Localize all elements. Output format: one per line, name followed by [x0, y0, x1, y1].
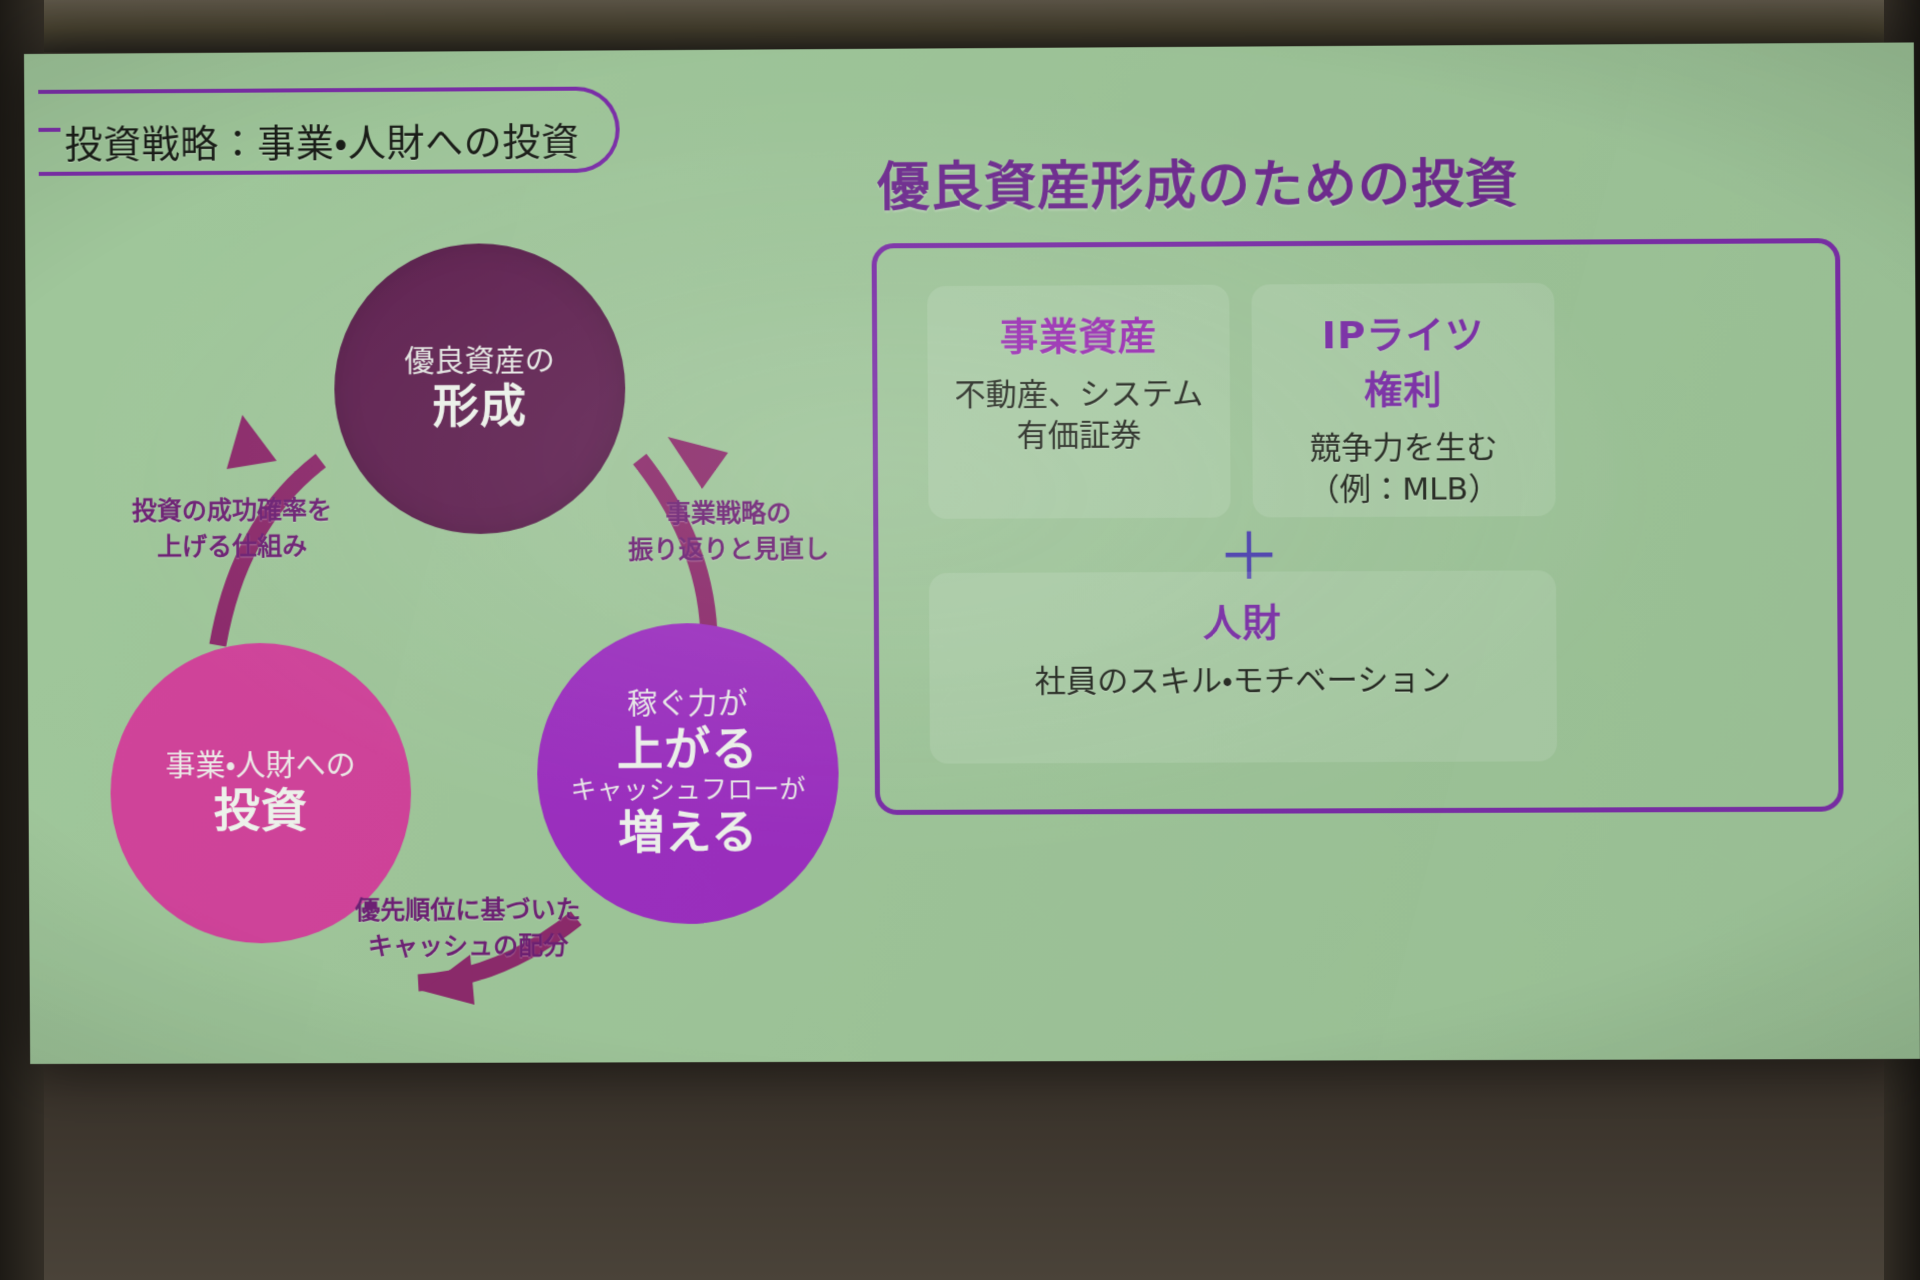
card-ip-rights[interactable]: IPライツ 権利 競争力を生む （例：MLB）	[1251, 283, 1555, 518]
cycle-node-earning-power[interactable]: 稼ぐ力が 上がる キャッシュフローが 増える	[536, 623, 839, 925]
cycle-node-earning-power-line2: 上がる	[617, 722, 759, 776]
investment-cycle-diagram: 優良資産の 形成 事業・人財への 投資 稼ぐ力が 上がる キャッシュフローが 増…	[65, 189, 862, 1024]
cycle-node-asset-formation-line2: 形成	[433, 379, 528, 433]
cycle-arrow-label-bottom-line2: キャッシュの配分	[298, 928, 639, 965]
card-human-capital-body: 社員のスキル・モチベーション	[929, 660, 1556, 704]
title-rule	[38, 128, 60, 132]
card-ip-rights-title-line1: IPライツ	[1252, 303, 1555, 360]
projection-screen: 投資戦略：事業・人財への投資 優良資産の 形成	[24, 42, 1920, 1064]
cycle-arrow-label-left-line2: 上げる仕組み	[87, 529, 378, 567]
cycle-arrow-label-left-line1: 投資の成功確率を	[87, 492, 378, 530]
card-human-capital[interactable]: 人財 社員のスキル・モチベーション	[929, 570, 1557, 763]
right-panel: 優良資産形成のための投資 事業資産 不動産、システム 有価証券 IPライツ 権利	[867, 139, 1881, 987]
card-human-capital-title: 人財	[929, 590, 1556, 648]
cycle-arrow-label-right: 事業戦略の 振り返りと見直し	[598, 495, 860, 569]
cycle-node-investment-line1: 事業・人財への	[165, 749, 356, 785]
card-business-assets-body: 不動産、システム 有価証券	[928, 374, 1231, 458]
slide-canvas: 投資戦略：事業・人財への投資 優良資産の 形成	[24, 42, 1920, 1064]
cycle-arrow-label-right-line2: 振り返りと見直し	[598, 532, 859, 569]
card-ip-rights-body: 競争力を生む （例：MLB）	[1252, 428, 1555, 512]
cycle-node-earning-power-line3: キャッシュフローが	[570, 775, 805, 806]
card-ip-rights-body-line1: 競争力を生む	[1252, 428, 1555, 471]
card-business-assets[interactable]: 事業資産 不動産、システム 有価証券	[927, 285, 1231, 519]
cycle-arrow-label-right-line1: 事業戦略の	[598, 495, 859, 533]
arrow-head-top-to-right	[668, 437, 729, 489]
card-business-assets-body-line1: 不動産、システム	[928, 374, 1230, 417]
page-title: 投資戦略：事業・人財への投資	[64, 111, 579, 169]
cycle-node-asset-formation-line1: 優良資産の	[404, 344, 555, 380]
card-ip-rights-title-line2: 権利	[1252, 358, 1555, 415]
right-panel-heading: 優良資産形成のための投資	[877, 141, 1518, 220]
cycle-node-asset-formation[interactable]: 優良資産の 形成	[333, 243, 626, 535]
cycle-arrow-label-bottom-line1: 優先順位に基づいた	[297, 892, 638, 929]
cycle-node-earning-power-line1: 稼ぐ力が	[627, 687, 748, 722]
right-panel-box: 事業資産 不動産、システム 有価証券 IPライツ 権利 競争力を生む （例：ML…	[872, 238, 1844, 815]
cycle-arrow-label-left: 投資の成功確率を 上げる仕組み	[87, 492, 378, 566]
photo-background: 投資戦略：事業・人財への投資 優良資産の 形成	[0, 0, 1920, 1280]
card-business-assets-body-line2: 有価証券	[928, 415, 1230, 458]
card-human-capital-body-line1: 社員のスキル・モチベーション	[929, 660, 1556, 704]
card-ip-rights-body-line2: （例：MLB）	[1253, 469, 1556, 511]
cycle-node-investment-line2: 投資	[214, 784, 308, 838]
cycle-node-earning-power-line4: 増える	[618, 806, 759, 860]
cycle-arrow-label-bottom: 優先順位に基づいた キャッシュの配分	[297, 892, 638, 966]
card-business-assets-title: 事業資産	[927, 305, 1229, 362]
arrow-head-left-to-top	[226, 415, 276, 469]
